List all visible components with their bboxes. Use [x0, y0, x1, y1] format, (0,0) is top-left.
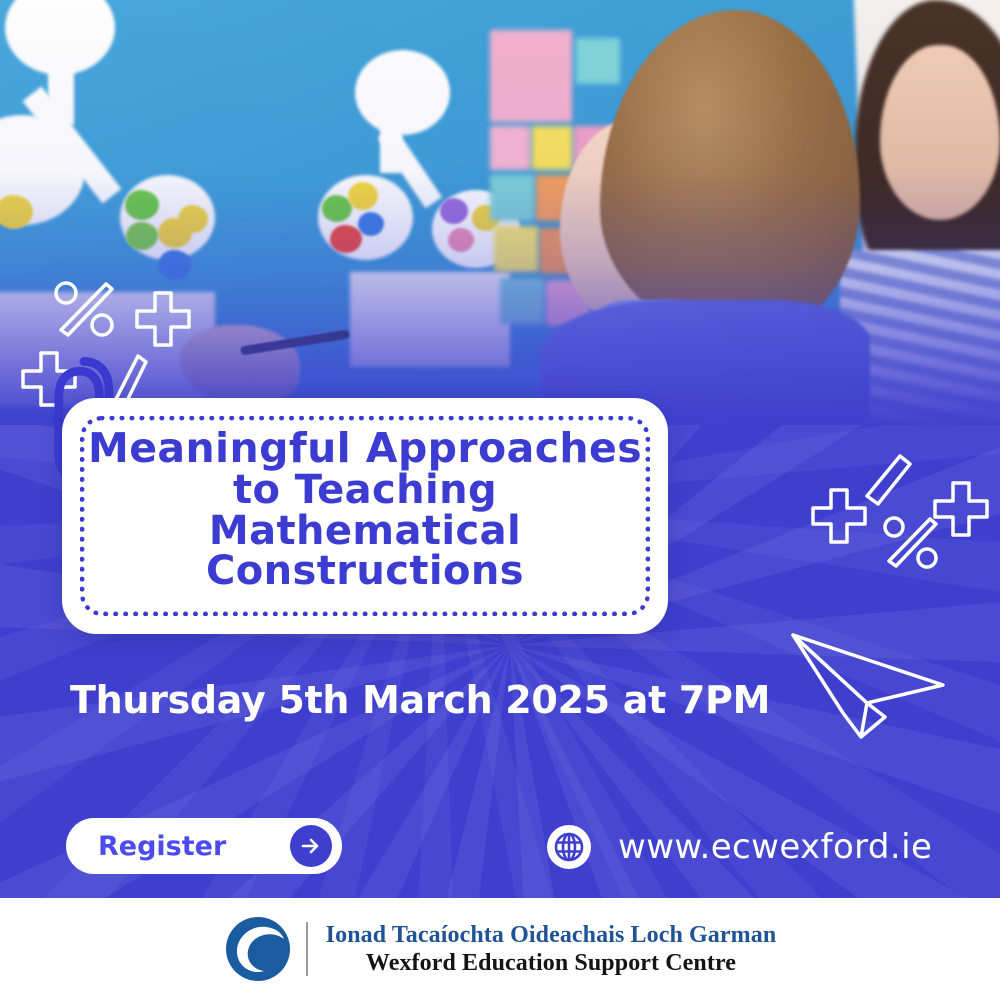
plus-icon	[132, 288, 194, 350]
footer-logo-bar: Ionad Tacaíochta Oideachais Loch Garman …	[0, 898, 1000, 1000]
logo-english-name: Wexford Education Support Centre	[326, 949, 777, 977]
percent-icon	[50, 278, 120, 340]
title-card: Meaningful Approaches to Teaching Mathem…	[62, 398, 668, 634]
title-line-1: Meaningful Approaches	[62, 428, 668, 470]
wave-crescent-logo	[224, 915, 292, 983]
register-button[interactable]: Register	[66, 818, 342, 874]
event-poster: Meaningful Approaches to Teaching Mathem…	[0, 0, 1000, 1000]
arrow-right-icon	[290, 825, 332, 867]
register-button-label: Register	[98, 831, 226, 862]
plus-icon	[808, 485, 870, 547]
title-line-2: to Teaching	[62, 470, 668, 511]
website-url: www.ecwexford.ie	[618, 827, 932, 867]
title-line-3: Mathematical	[62, 511, 668, 552]
website-link[interactable]: www.ecwexford.ie	[546, 824, 932, 870]
event-date: Thursday 5th March 2025 at 7PM	[70, 678, 770, 722]
logo-divider	[306, 922, 308, 976]
paper-plane-icon	[785, 625, 950, 740]
globe-icon	[546, 824, 592, 870]
logo-wordmark: Ionad Tacaíochta Oideachais Loch Garman …	[326, 921, 777, 978]
title-line-4: Constructions	[62, 551, 668, 592]
percent-icon	[880, 513, 942, 573]
page-title: Meaningful Approaches to Teaching Mathem…	[62, 428, 668, 592]
logo-irish-name: Ionad Tacaíochta Oideachais Loch Garman	[326, 921, 777, 949]
